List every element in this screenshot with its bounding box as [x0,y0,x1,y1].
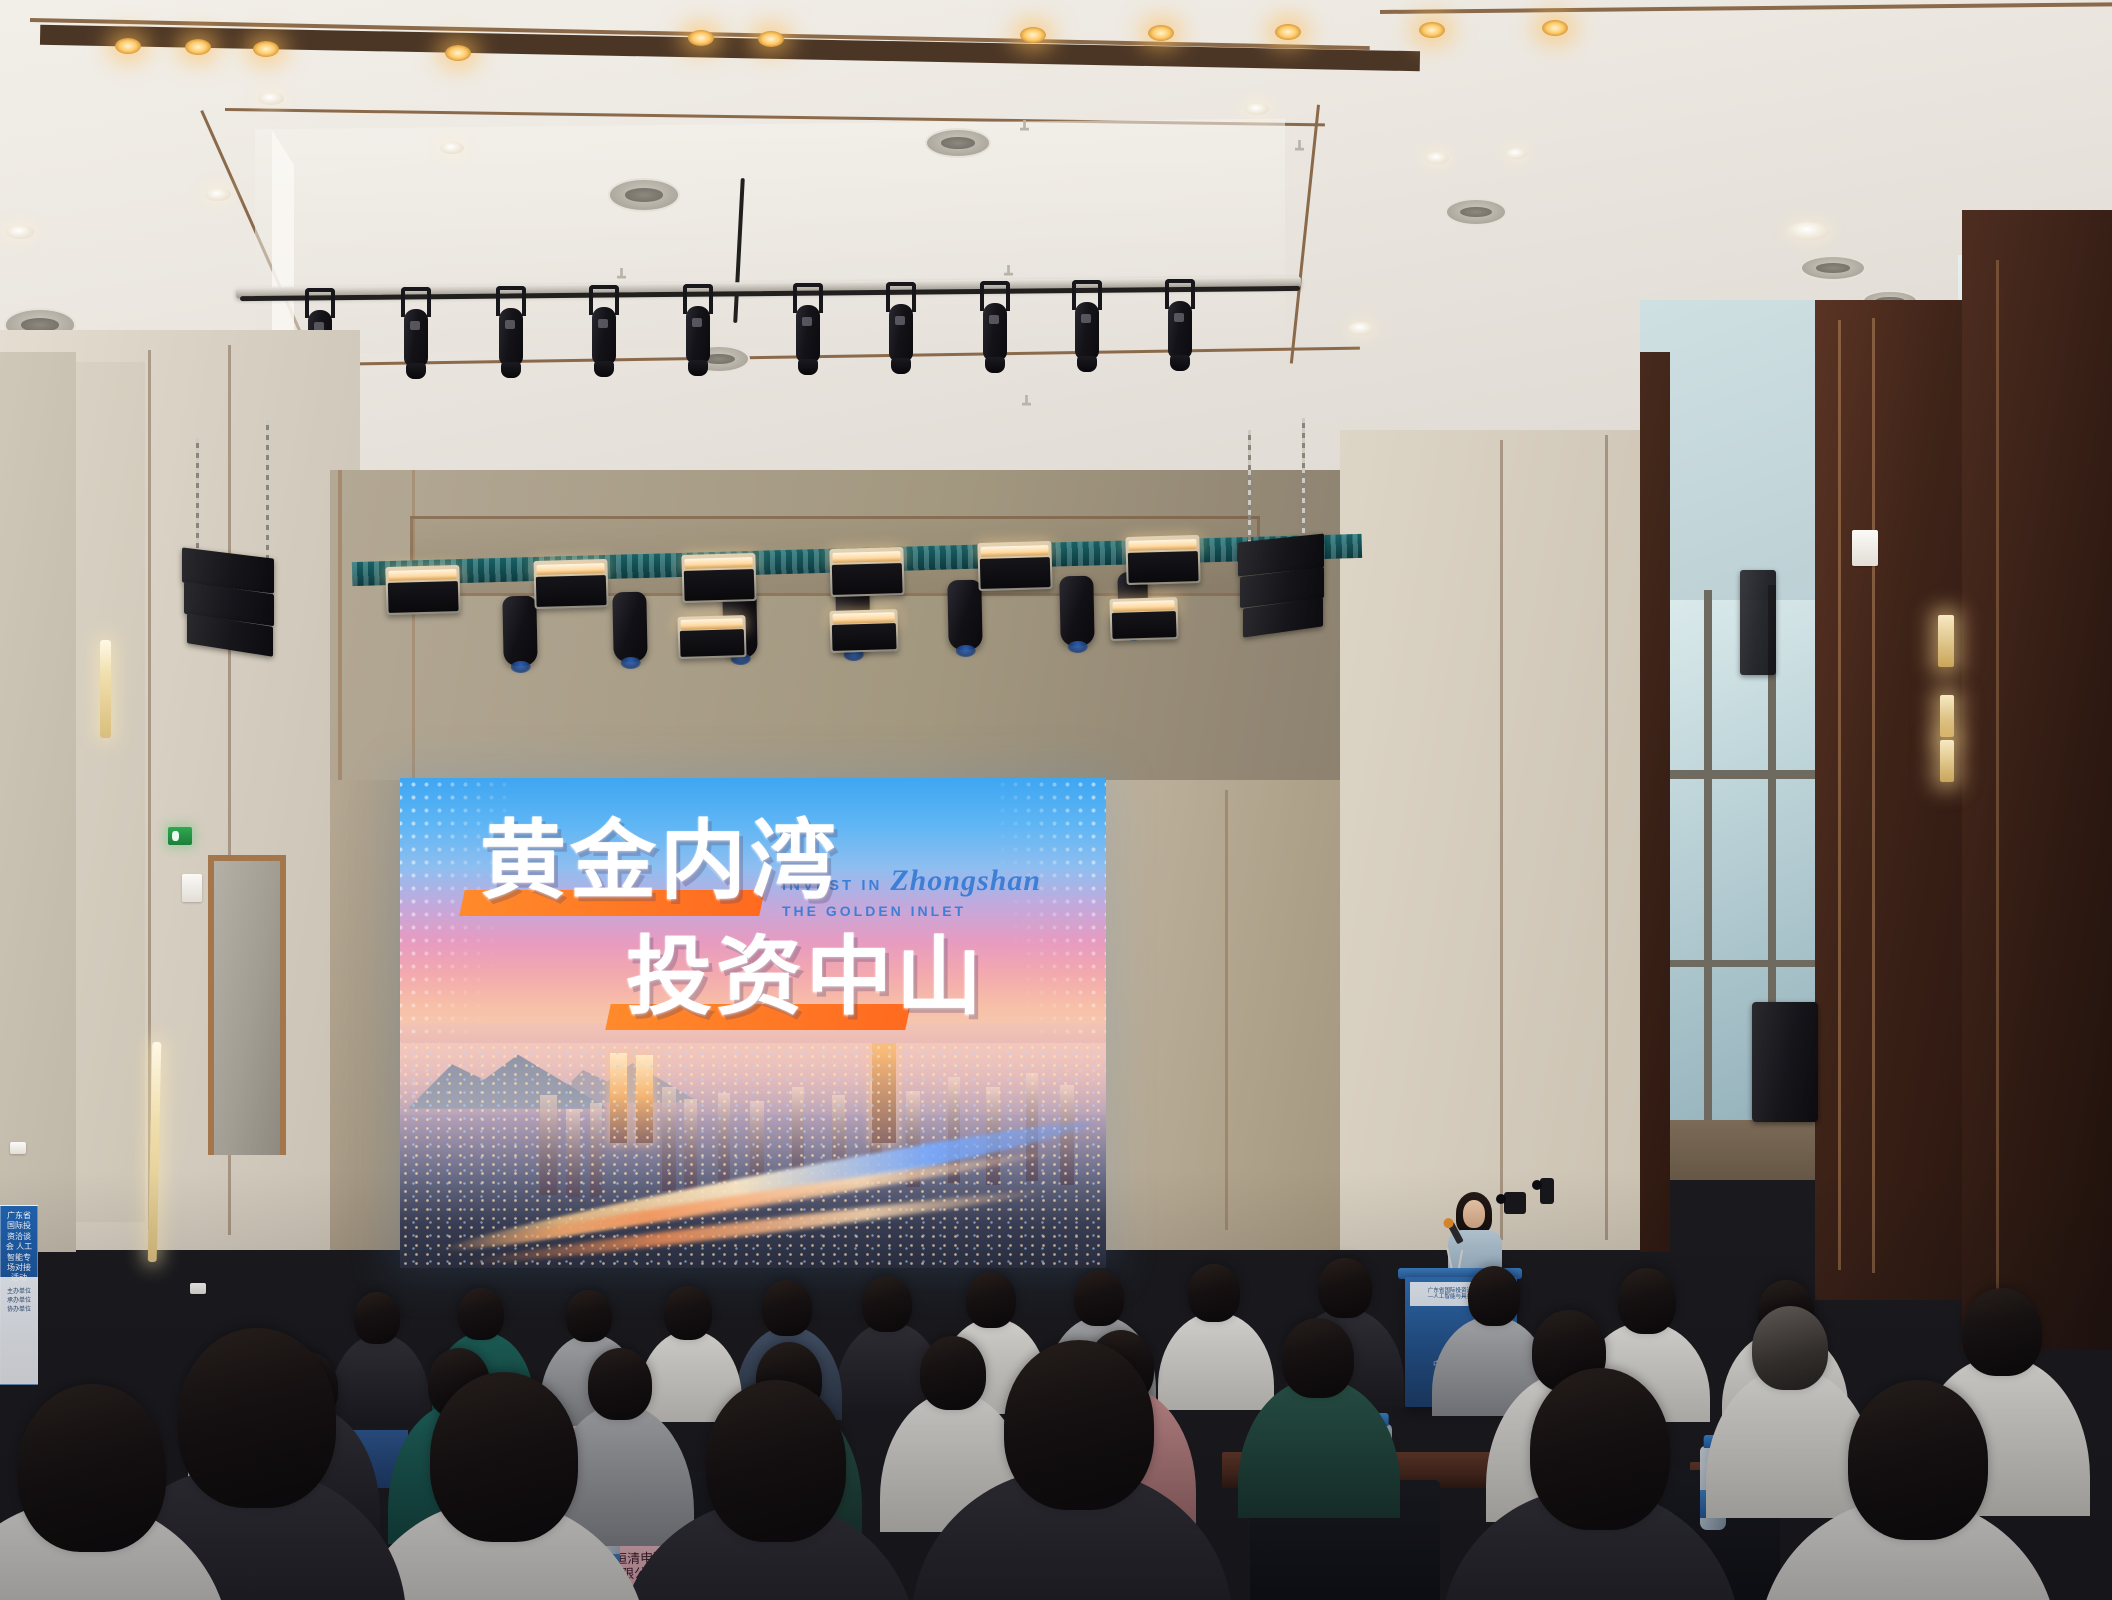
audience-head [458,1288,504,1340]
ceiling-bulb [758,31,784,47]
wood-column-groove [1996,260,1999,1320]
ceiling-bulb [1419,22,1445,38]
wash-light-face [684,569,754,601]
wash-light-tube [1128,539,1196,551]
moving-head-lens [688,360,708,376]
wash-light-face [980,557,1050,589]
speaker-hanging-chain [196,438,199,560]
wall-mounted-speaker [1752,1002,1818,1122]
audience-head [1962,1288,2042,1376]
ceiling-bulb [445,45,471,61]
wash-light-tube [536,563,604,575]
audience-head [966,1272,1016,1328]
event-banner: 广东省国际投资洽谈会 人工智能专场对接活动 主办单位 承办单位 协办单位 [0,1205,38,1385]
moving-head-display [1174,313,1184,322]
audience-member [330,1334,430,1426]
ceiling-downlight [440,142,464,154]
ptz-camera [1540,1178,1554,1204]
wash-light-face [832,563,902,595]
wall-speaker-box [1852,530,1878,566]
audience-head [1752,1306,1828,1390]
left-wall-pilaster [75,362,145,1222]
audience-head [1282,1318,1354,1398]
audience-head [664,1286,712,1340]
led-title-line-2: 投资中山 [626,934,986,1020]
audience-head [1618,1268,1676,1334]
ceiling-downlight [258,92,284,105]
proscenium-seam [338,470,342,800]
stage-right-seam [1225,790,1228,1230]
moving-head-display [989,315,999,324]
right-wood-column-outer [1962,210,2112,1350]
audience-head-foreground [18,1384,166,1552]
audience-head-foreground [1530,1368,1670,1530]
audience-head [920,1336,986,1410]
stage-beam-light [1059,576,1094,647]
moving-head-display [598,319,608,328]
ceiling-bulb [1542,20,1568,36]
audience-head [862,1276,912,1332]
audience-head-foreground [178,1328,336,1508]
moving-head-body [796,305,820,363]
stage-wash-light [677,615,746,659]
wall-sconce-light [1940,740,1954,782]
audience-head [1318,1258,1372,1318]
ceiling-downlight [1505,148,1527,159]
led-title-block: 黄金内湾 投资中山 [438,818,1068,1044]
wash-light-tube [684,557,752,569]
moving-head-lens [798,359,818,375]
audience-head-foreground [706,1380,846,1542]
moving-head-body [404,309,428,367]
stage-beam-light [502,596,537,667]
moving-head-display [410,321,420,330]
wall-phone [182,874,202,902]
speaker-hanging-chain [1302,418,1305,543]
audience-head [354,1292,400,1344]
stairwell-door [208,855,286,1155]
audience-head-foreground [1004,1340,1154,1510]
moving-head-body [983,303,1007,361]
ceiling-bulb [185,39,211,55]
speaker-hanging-chain [1248,430,1251,545]
wash-light-tube [680,618,743,629]
audience-member [1158,1312,1274,1410]
moving-head-body [889,304,913,362]
wash-light-face [1112,611,1177,639]
ceiling-vent [1445,198,1507,226]
left-wall-light-strip [100,640,111,738]
audience-head [566,1290,612,1342]
wash-light-face [536,575,606,607]
wash-light-tube [1112,600,1175,611]
ceiling-bulb [1275,24,1301,40]
banner-row-1: 主办单位 [7,1289,31,1295]
audience-head [588,1348,652,1420]
stage-wash-light [681,553,756,603]
stage-wash-light [829,547,904,597]
moving-head-body [499,308,523,366]
audience-head [1468,1266,1520,1326]
moving-head-lens [985,357,1005,373]
wall-switch-plate [10,1142,26,1154]
ceiling-bulb [1148,25,1174,41]
wash-light-tube [832,551,900,563]
wash-light-face [680,629,745,657]
moving-head-body [592,307,616,365]
ceiling-vent [925,128,991,158]
stage-beam-light [612,592,647,663]
speaker-hanging-chain [266,420,269,560]
banner-row-2: 承办单位 [7,1298,31,1304]
wood-column-groove [1838,320,1841,1270]
banner-row-3: 协办单位 [7,1307,31,1313]
moving-head-lens [891,358,911,374]
led-cityscape [400,1043,1106,1268]
ceiling-downlight [1788,222,1830,240]
ceiling-bulb [115,38,141,54]
ceiling-vent [1800,255,1866,281]
moving-head-display [505,320,515,329]
ceiling-vent [608,178,680,212]
led-title-line-1-text: 黄金内湾 [480,813,840,909]
ceiling-downlight [1245,103,1269,115]
wall-switch-plate [190,1283,206,1294]
moving-head-lens [501,362,521,378]
moving-head-display [895,316,905,325]
stage-beam-light [947,580,982,651]
audience-head [1188,1264,1240,1322]
stage-left-flank [330,780,410,1250]
stage-wash-light [1109,597,1178,641]
led-title-line-1: 黄金内湾 [480,818,840,904]
moving-head-body [1168,301,1192,359]
led-english-script: Zhongshan [890,864,1041,898]
wash-light-tube [980,545,1048,557]
window-mullion-vertical [1704,590,1712,1150]
stage-wash-light [1125,535,1200,585]
far-left-wall [0,352,76,1252]
stage-wash-light [977,541,1052,591]
ceiling-bulb [688,30,714,46]
presenter-head [1463,1200,1485,1228]
led-title-line-2-text: 投资中山 [626,929,986,1025]
wash-light-tube [832,612,895,623]
ceiling-downlight [205,188,231,201]
right-wood-column-mid [1640,352,1670,1252]
audience-head [1074,1270,1124,1326]
right-wall-seam [1605,435,1608,1240]
wash-light-face [388,581,458,613]
exit-sign [168,827,192,845]
wall-sconce-light [1940,695,1954,737]
ceiling-downlight [1348,322,1374,335]
audience-head-foreground [430,1372,578,1542]
moving-head-display [1081,314,1091,323]
proscenium-seam [412,470,415,800]
moving-head-lens [1077,356,1097,372]
moving-head-body [686,306,710,364]
moving-head-body [1075,302,1099,360]
ceiling-bulb [253,41,279,57]
audience-head [762,1280,812,1336]
stage-wash-light [829,609,898,653]
conference-hall-photo: 广东省国际投资洽谈会 人工智能专场对接活动 主办单位 承办单位 协办单位 [0,0,2112,1600]
wood-column-groove [1872,318,1875,1273]
wall-mounted-speaker [1740,570,1776,675]
moving-head-display [692,318,702,327]
led-video-wall: 黄金内湾 投资中山 INVEST IN Zhongshan THE GOLDEN… [400,778,1106,1268]
audience-head-foreground [1848,1380,1988,1540]
stage-wash-light [533,559,608,609]
wash-light-face [1128,551,1198,583]
window-mullion-horizontal [1640,960,1840,967]
banner-rows: 主办单位 承办单位 协办单位 [1,1284,37,1384]
moving-head-lens [1170,355,1190,371]
ceiling-downlight [6,225,34,239]
stage-wash-light [385,565,460,615]
ceiling-downlight [1425,152,1449,164]
wash-light-tube [388,569,456,581]
window-mullion-horizontal [1640,770,1840,779]
window-sill [1640,1120,1840,1180]
moving-head-display [802,317,812,326]
right-wall-seam [1500,440,1503,1240]
wash-light-face [832,623,897,651]
wall-sconce-light [1938,615,1954,667]
moving-head-lens [594,361,614,377]
right-wall [1340,430,1640,1250]
ceiling-bulb [1020,27,1046,43]
moving-head-lens [406,363,426,379]
banner-heading: 广东省国际投资洽谈会 人工智能专场对接活动 [1,1206,37,1281]
